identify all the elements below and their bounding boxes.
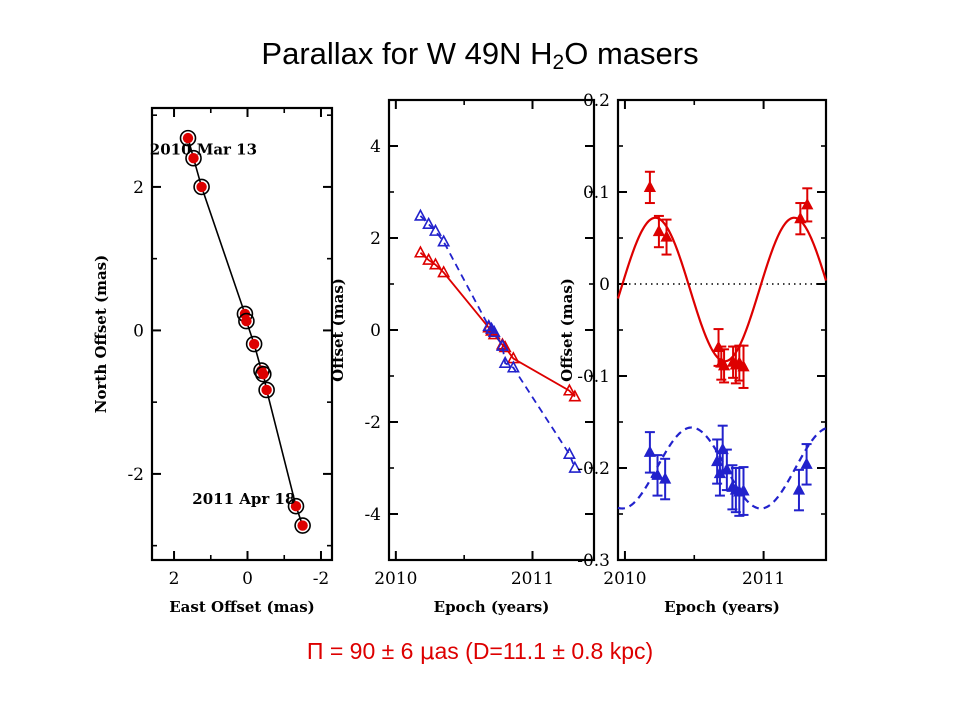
caption-value: = 90 ± 6 (330, 638, 420, 664)
caption-rest: as (D=11.1 ± 0.8 kpc) (434, 638, 653, 664)
panel-offsets-ytick-label: -4 (364, 505, 381, 525)
panel-offsets-xtick-label: 2011 (511, 569, 554, 589)
panel-sky-ytick-label: 0 (133, 321, 144, 341)
panel-sky-xtick-label: 2 (169, 569, 180, 589)
panel-offsets-ytick-label: -2 (364, 413, 381, 433)
panel-sky-series-maser-track (181, 131, 311, 533)
data-point (415, 247, 425, 257)
panel-parallax-ytick-label: -0.3 (577, 551, 610, 571)
panel-offsets-series-east-offset (415, 247, 580, 401)
data-point (645, 182, 655, 191)
panel-sky-xlabel: East Offset (mas) (169, 598, 315, 616)
panel-offsets-line-east-offset (420, 253, 574, 397)
panel-offsets-xtick-label: 2010 (374, 569, 417, 589)
panel-parallax-ytick-label: -0.1 (577, 367, 610, 387)
caption-mu: μ (420, 639, 435, 665)
figure-page: Parallax for W 49N H2O masers 20-220-2Ea… (0, 0, 960, 720)
panel-offsets-ytick-label: 0 (370, 321, 381, 341)
panel-sky-xtick-label: 0 (242, 569, 253, 589)
data-point (196, 182, 206, 192)
data-point (241, 316, 251, 326)
panel-offsets-series-north-offset (415, 210, 580, 472)
panel-parallax-xtick-label: 2011 (742, 569, 785, 589)
panel-parallax-ytick-label: -0.2 (577, 459, 610, 479)
panel-sky-ytick-label: -2 (127, 465, 144, 485)
data-point (802, 459, 812, 468)
panel-offsets-line-north-offset (420, 216, 574, 468)
panel-offsets-xlabel: Epoch (years) (434, 598, 550, 616)
data-point (654, 226, 664, 235)
data-point (415, 210, 425, 220)
panel-offsets-ytick-label: 2 (370, 229, 381, 249)
data-point (802, 200, 812, 209)
panel-parallax-ytick-label: 0 (599, 275, 610, 295)
panel-offsets-group: 420-2-420102011Epoch (years)Offset (mas) (329, 100, 594, 616)
panel-sky-ylabel: North Offset (mas) (92, 255, 110, 413)
panel-offsets-ytick-label: 4 (370, 137, 381, 157)
panel-parallax-series-east-parallax (618, 172, 826, 388)
data-point (249, 339, 259, 349)
panel-parallax-xtick-label: 2010 (603, 569, 646, 589)
parallax-result-caption: Π = 90 ± 6 μas (D=11.1 ± 0.8 kpc) (0, 638, 960, 665)
epoch-annotation: 2011 Apr 18 (192, 490, 295, 508)
epoch-annotation: 2010 Mar 13 (150, 141, 257, 159)
panel-parallax-fit-curve-east-parallax (618, 218, 826, 362)
panel-parallax-ylabel: Offset (mas) (558, 278, 576, 382)
panel-parallax-ytick-label: 0.2 (583, 91, 610, 111)
data-point (794, 485, 804, 494)
panel-sky-ytick-label: 2 (133, 178, 144, 198)
panel-offsets-ylabel: Offset (mas) (329, 278, 347, 382)
panel-parallax-series-north-parallax (618, 426, 826, 516)
data-point (261, 385, 271, 395)
caption-symbol: Π (307, 638, 324, 664)
panel-sky-group: 20-220-2East Offset (mas)North Offset (m… (92, 108, 332, 616)
panel-sky-line-maser-track (188, 138, 303, 525)
parallax-figure-plots: 20-220-2East Offset (mas)North Offset (m… (0, 0, 960, 720)
panel-parallax-ytick-label: 0.1 (583, 183, 610, 203)
panel-parallax-group: 0.20.10-0.1-0.2-0.320102011Epoch (years)… (558, 91, 826, 616)
data-point (297, 520, 307, 530)
data-point (645, 447, 655, 456)
panel-sky-xtick-label: -2 (313, 569, 330, 589)
panel-parallax-xlabel: Epoch (years) (664, 598, 780, 616)
data-point (258, 369, 268, 379)
